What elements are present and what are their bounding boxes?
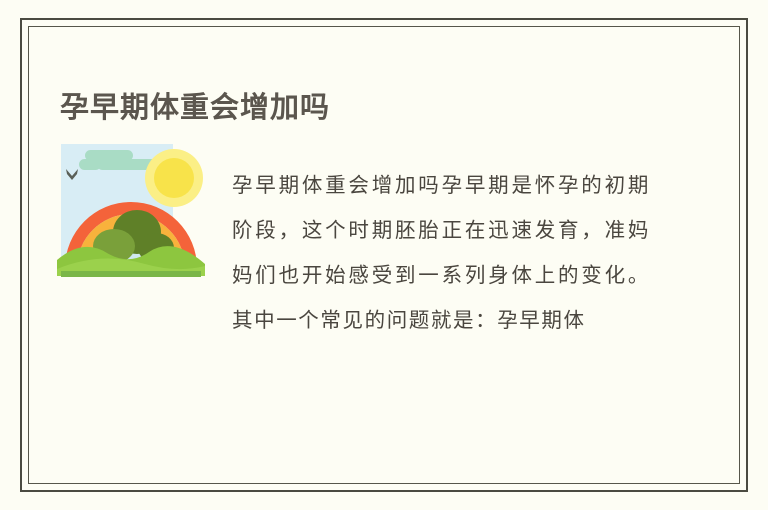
article-content: 孕早期体重会增加吗 bbox=[28, 26, 740, 484]
page-root: 孕早期体重会增加吗 bbox=[0, 0, 768, 510]
article-paragraph: 孕早期体重会增加吗孕早期是怀孕的初期阶段，这个时期胚胎正在迅速发育，准妈妈们也开… bbox=[232, 163, 650, 343]
rainbow-landscape-illustration bbox=[57, 140, 205, 288]
page-title: 孕早期体重会增加吗 bbox=[60, 91, 330, 126]
article-body: 孕早期体重会增加吗孕早期是怀孕的初期阶段，这个时期胚胎正在迅速发育，准妈妈们也开… bbox=[57, 140, 707, 400]
